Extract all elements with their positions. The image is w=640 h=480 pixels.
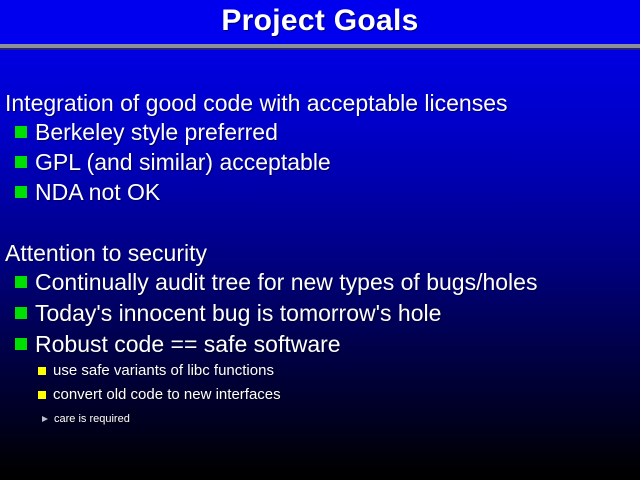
sub-bullet-item: use safe variants of libc functions bbox=[38, 360, 274, 382]
section-heading-2: Attention to security bbox=[5, 238, 207, 268]
bullet-item: GPL (and similar) acceptable bbox=[15, 147, 331, 177]
green-square-bullet-icon bbox=[15, 126, 27, 138]
section-heading-1: Integration of good code with acceptable… bbox=[5, 88, 508, 118]
sub-sub-bullet-item: care is required bbox=[42, 410, 130, 428]
sub-bullet-label: use safe variants of libc functions bbox=[53, 360, 274, 382]
header-divider-shadow bbox=[0, 48, 640, 50]
slide-title: Project Goals bbox=[0, 3, 640, 39]
yellow-square-bullet-icon bbox=[38, 367, 46, 375]
triangle-bullet-icon bbox=[42, 416, 48, 422]
green-square-bullet-icon bbox=[15, 307, 27, 319]
presentation-slide: Project Goals Integration of good code w… bbox=[0, 0, 640, 480]
bullet-label: GPL (and similar) acceptable bbox=[35, 147, 331, 177]
bullet-item: Today's innocent bug is tomorrow's hole bbox=[15, 298, 441, 328]
sub-bullet-label: convert old code to new interfaces bbox=[53, 384, 281, 406]
bullet-label: NDA not OK bbox=[35, 177, 160, 207]
bullet-label: Berkeley style preferred bbox=[35, 117, 278, 147]
slide-header: Project Goals bbox=[0, 0, 640, 44]
bullet-item: Robust code == safe software bbox=[15, 329, 341, 359]
bullet-item: NDA not OK bbox=[15, 177, 160, 207]
bullet-item: Berkeley style preferred bbox=[15, 117, 278, 147]
bullet-item: Continually audit tree for new types of … bbox=[15, 267, 537, 297]
green-square-bullet-icon bbox=[15, 276, 27, 288]
sub-bullet-item: convert old code to new interfaces bbox=[38, 384, 281, 406]
sub-sub-bullet-label: care is required bbox=[54, 410, 130, 428]
bullet-label: Robust code == safe software bbox=[35, 329, 341, 359]
green-square-bullet-icon bbox=[15, 156, 27, 168]
green-square-bullet-icon bbox=[15, 338, 27, 350]
green-square-bullet-icon bbox=[15, 186, 27, 198]
bullet-label: Today's innocent bug is tomorrow's hole bbox=[35, 298, 441, 328]
slide-content: Integration of good code with acceptable… bbox=[0, 50, 640, 480]
bullet-label: Continually audit tree for new types of … bbox=[35, 267, 537, 297]
yellow-square-bullet-icon bbox=[38, 391, 46, 399]
